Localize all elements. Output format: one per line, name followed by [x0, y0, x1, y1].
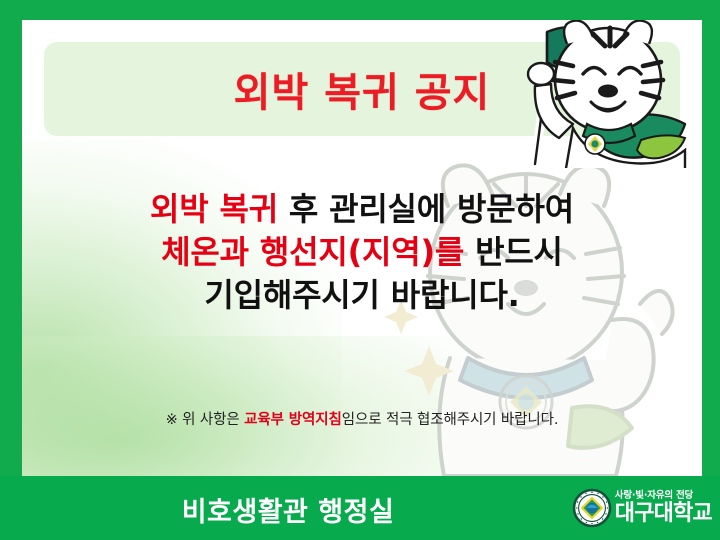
body-line-3: 기입해주시기 바랍니다. [22, 274, 702, 317]
page-title: 외박 복귀 공지 [44, 42, 680, 136]
content-panel: 외박 복귀 공지 [22, 20, 702, 476]
body-line-1: 외박 복귀 후 관리실에 방문하여 [22, 188, 702, 231]
body-line-1-black: 후 관리실에 방문하여 [278, 190, 574, 228]
footnote-suffix: 임으로 적극 협조해주시기 바랍니다. [342, 412, 559, 428]
university-emblem-icon [572, 488, 612, 528]
body-line-3-black: 기입해주시기 바랍니다. [204, 276, 519, 314]
footer-department: 비호생활관 행정실 [0, 490, 648, 529]
body-line-2-red: 체온과 행선지(지역)를 [161, 233, 464, 271]
footnote: ※ 위 사항은 교육부 방역지침임으로 적극 협조해주시기 바랍니다. [22, 408, 702, 429]
body-text-block: 외박 복귀 후 관리실에 방문하여 체온과 행선지(지역)를 반드시 기입해주시… [22, 188, 702, 317]
footer-bar: 비호생활관 행정실 [0, 476, 720, 540]
poster-root: 외박 복귀 공지 [0, 0, 720, 540]
footnote-highlight: 교육부 방역지침 [244, 412, 342, 428]
body-line-2: 체온과 행선지(지역)를 반드시 [22, 231, 702, 274]
body-line-1-red: 외박 복귀 [150, 190, 278, 228]
green-glow-bottom [22, 336, 542, 476]
body-line-2-black: 반드시 [464, 233, 563, 271]
logo-text-block: 사랑·빛·자유의 전당 대구대학교 [615, 491, 712, 526]
university-logo: 사랑·빛·자유의 전당 대구대학교 [572, 486, 712, 530]
footnote-prefix: ※ 위 사항은 [166, 412, 245, 428]
logo-university-name: 대구대학교 [615, 503, 712, 525]
logo-tagline: 사랑·빛·자유의 전당 [615, 491, 693, 501]
